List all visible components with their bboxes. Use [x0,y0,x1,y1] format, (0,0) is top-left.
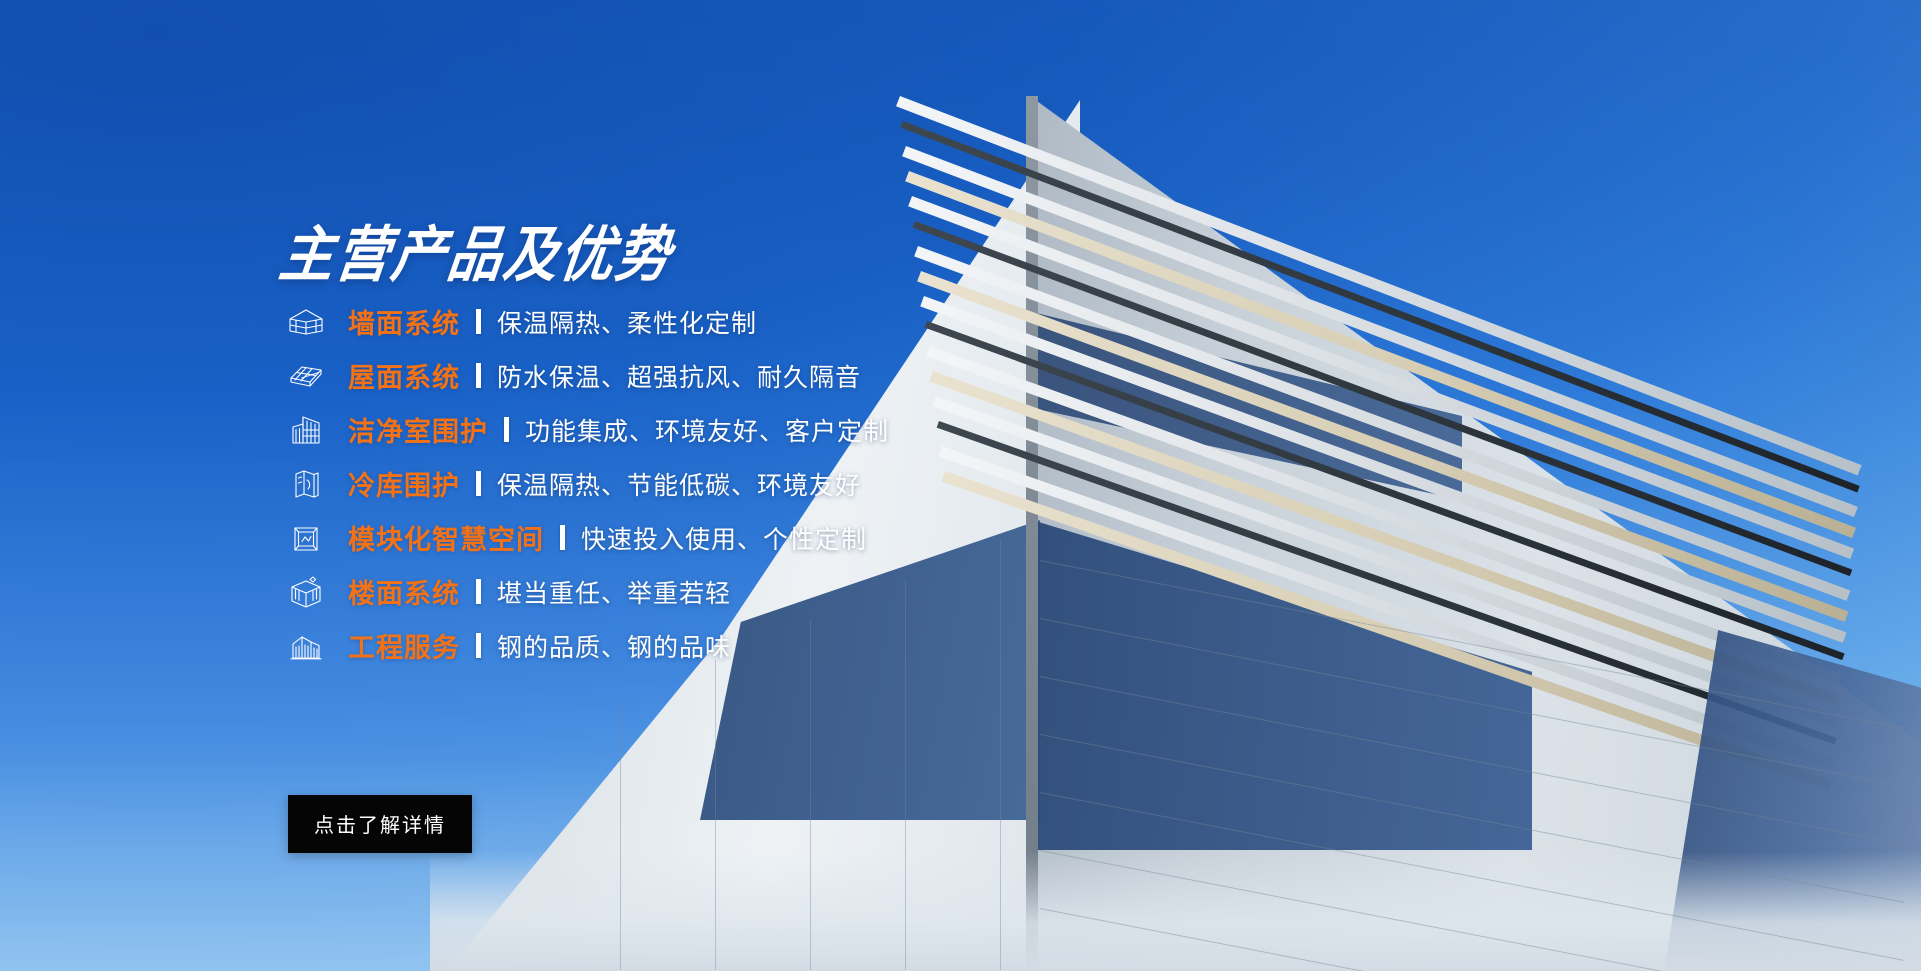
separator-bar [476,633,481,658]
separator-bar [476,363,481,388]
building-seam-line-vertical [1000,540,1001,970]
hero-content: 主营产品及优势 墙面系统保温隔热、柔性化定制 屋面系统防水保温、超强抗风、耐久隔… [0,0,980,971]
product-description: 功能集成、环境友好、客户定制 [525,412,889,448]
product-name: 工程服务 [348,626,460,665]
separator-bar [504,417,509,442]
product-row[interactable]: 楼面系统堪当重任、举重若轻 [286,565,976,618]
hero-banner: 主营产品及优势 墙面系统保温隔热、柔性化定制 屋面系统防水保温、超强抗风、耐久隔… [0,0,1921,971]
building-louvre-crown [900,96,1921,516]
product-description: 钢的品质、钢的品味 [497,628,731,664]
cleanroom-icon [286,411,326,449]
product-name: 楼面系统 [348,572,460,611]
product-row[interactable]: 墙面系统保温隔热、柔性化定制 [286,295,976,348]
learn-more-button[interactable]: 点击了解详情 [288,795,472,853]
product-name: 模块化智慧空间 [348,518,544,557]
product-row[interactable]: 洁净室围护功能集成、环境友好、客户定制 [286,403,976,456]
building-louvre-slat [908,196,1854,559]
product-name: 洁净室围护 [348,410,488,449]
product-description: 防水保温、超强抗风、耐久隔音 [497,358,861,394]
roof-system-icon [286,357,326,395]
product-description: 快速投入使用、个性定制 [581,520,867,556]
product-name: 冷库围护 [348,464,460,503]
engineering-service-icon [286,627,326,665]
separator-bar [476,471,481,496]
product-name: 墙面系统 [348,302,460,341]
product-name: 屋面系统 [348,356,460,395]
product-description: 保温隔热、节能低碳、环境友好 [497,466,861,502]
product-row[interactable]: 屋面系统防水保温、超强抗风、耐久隔音 [286,349,976,402]
product-row[interactable]: 冷库围护保温隔热、节能低碳、环境友好 [286,457,976,510]
product-description: 保温隔热、柔性化定制 [497,304,757,340]
modular-space-icon [286,519,326,557]
product-row[interactable]: 模块化智慧空间快速投入使用、个性定制 [286,511,976,564]
separator-bar [476,579,481,604]
product-list: 墙面系统保温隔热、柔性化定制 屋面系统防水保温、超强抗风、耐久隔音 洁净室围护功… [286,295,976,673]
separator-bar [476,309,481,334]
cold-storage-icon [286,465,326,503]
floor-system-icon [286,573,326,611]
separator-bar [560,525,565,550]
page-title: 主营产品及优势 [275,205,678,293]
product-row[interactable]: 工程服务钢的品质、钢的品味 [286,619,976,672]
product-description: 堪当重任、举重若轻 [497,574,731,610]
wall-system-icon [286,303,326,341]
